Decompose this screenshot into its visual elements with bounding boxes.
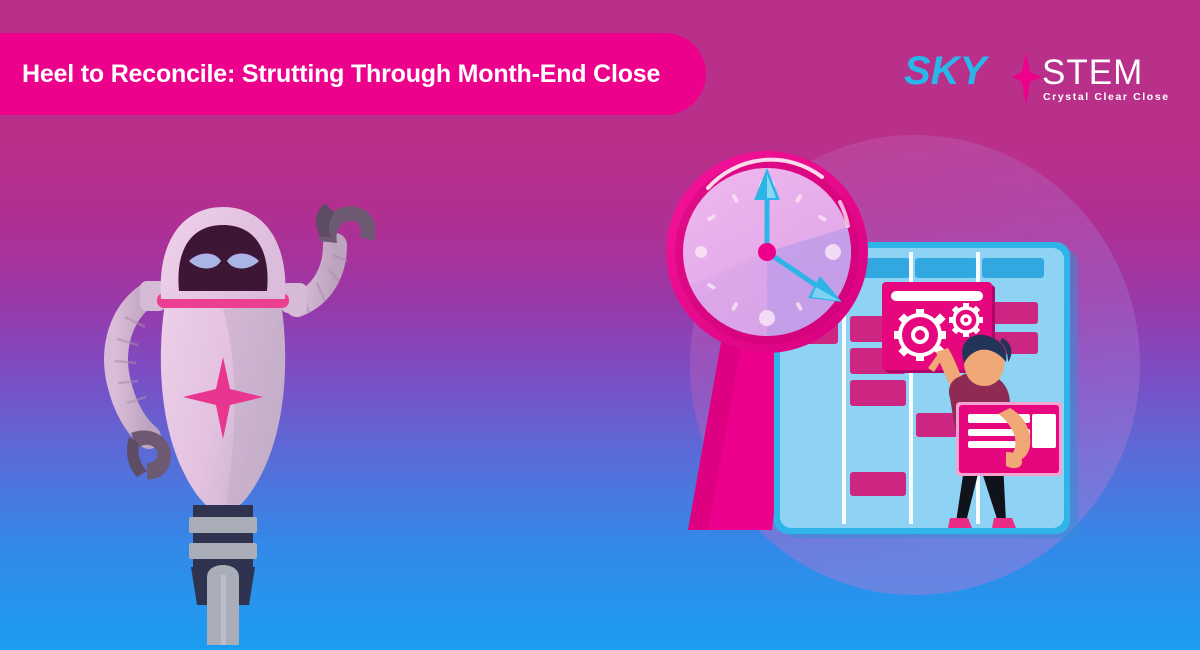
skystem-logo[interactable]: SKY STEM Crystal Clear Close [902, 44, 1172, 110]
robot-illustration [85, 175, 375, 650]
clock-hub [758, 243, 776, 261]
person-shoe [948, 518, 972, 528]
board-header-strip [915, 258, 977, 278]
clock-dot [759, 310, 775, 326]
card-line [968, 441, 1016, 448]
logo-sky-text: SKY [904, 49, 990, 93]
spark-icon [1012, 52, 1042, 106]
clock-dot [825, 244, 841, 260]
banner-graphic: Heel to Reconcile: Strutting Through Mon… [0, 0, 1200, 650]
gear-card-title-bar [891, 291, 983, 301]
task-card [850, 380, 906, 406]
clock-dot [695, 246, 707, 258]
task-card [850, 472, 906, 496]
page-title-banner: Heel to Reconcile: Strutting Through Mon… [0, 33, 706, 115]
card-thumb [1032, 414, 1056, 448]
robot-arm-right [281, 203, 375, 313]
scene-illustration [650, 130, 1150, 600]
wall-clock [666, 151, 868, 353]
robot-base [189, 505, 257, 645]
person-shoe [992, 518, 1016, 528]
board-header-strip [982, 258, 1044, 278]
page-title: Heel to Reconcile: Strutting Through Mon… [22, 60, 660, 89]
logo-tagline: Crystal Clear Close [1043, 91, 1170, 103]
logo-stem-text: STEM [1042, 53, 1143, 92]
